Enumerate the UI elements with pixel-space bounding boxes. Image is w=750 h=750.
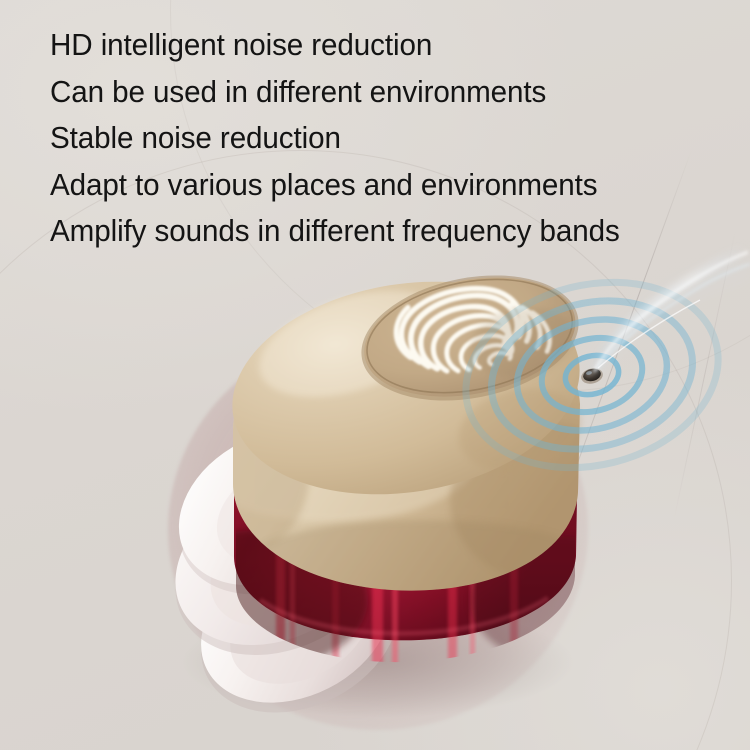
feature-line-5: Amplify sounds in different frequency ba… [50,208,709,255]
microphone-hole [580,366,605,386]
light-wisp [592,248,750,374]
feature-line-4: Adapt to various places and environments [50,162,709,209]
feature-line-3: Stable noise reduction [50,115,709,162]
feature-list: HD intelligent noise reduction Can be us… [50,22,740,255]
product-feature-image: HD intelligent noise reduction Can be us… [0,0,750,750]
feature-line-1: HD intelligent noise reduction [50,22,709,69]
feature-line-2: Can be used in different environments [50,69,709,116]
